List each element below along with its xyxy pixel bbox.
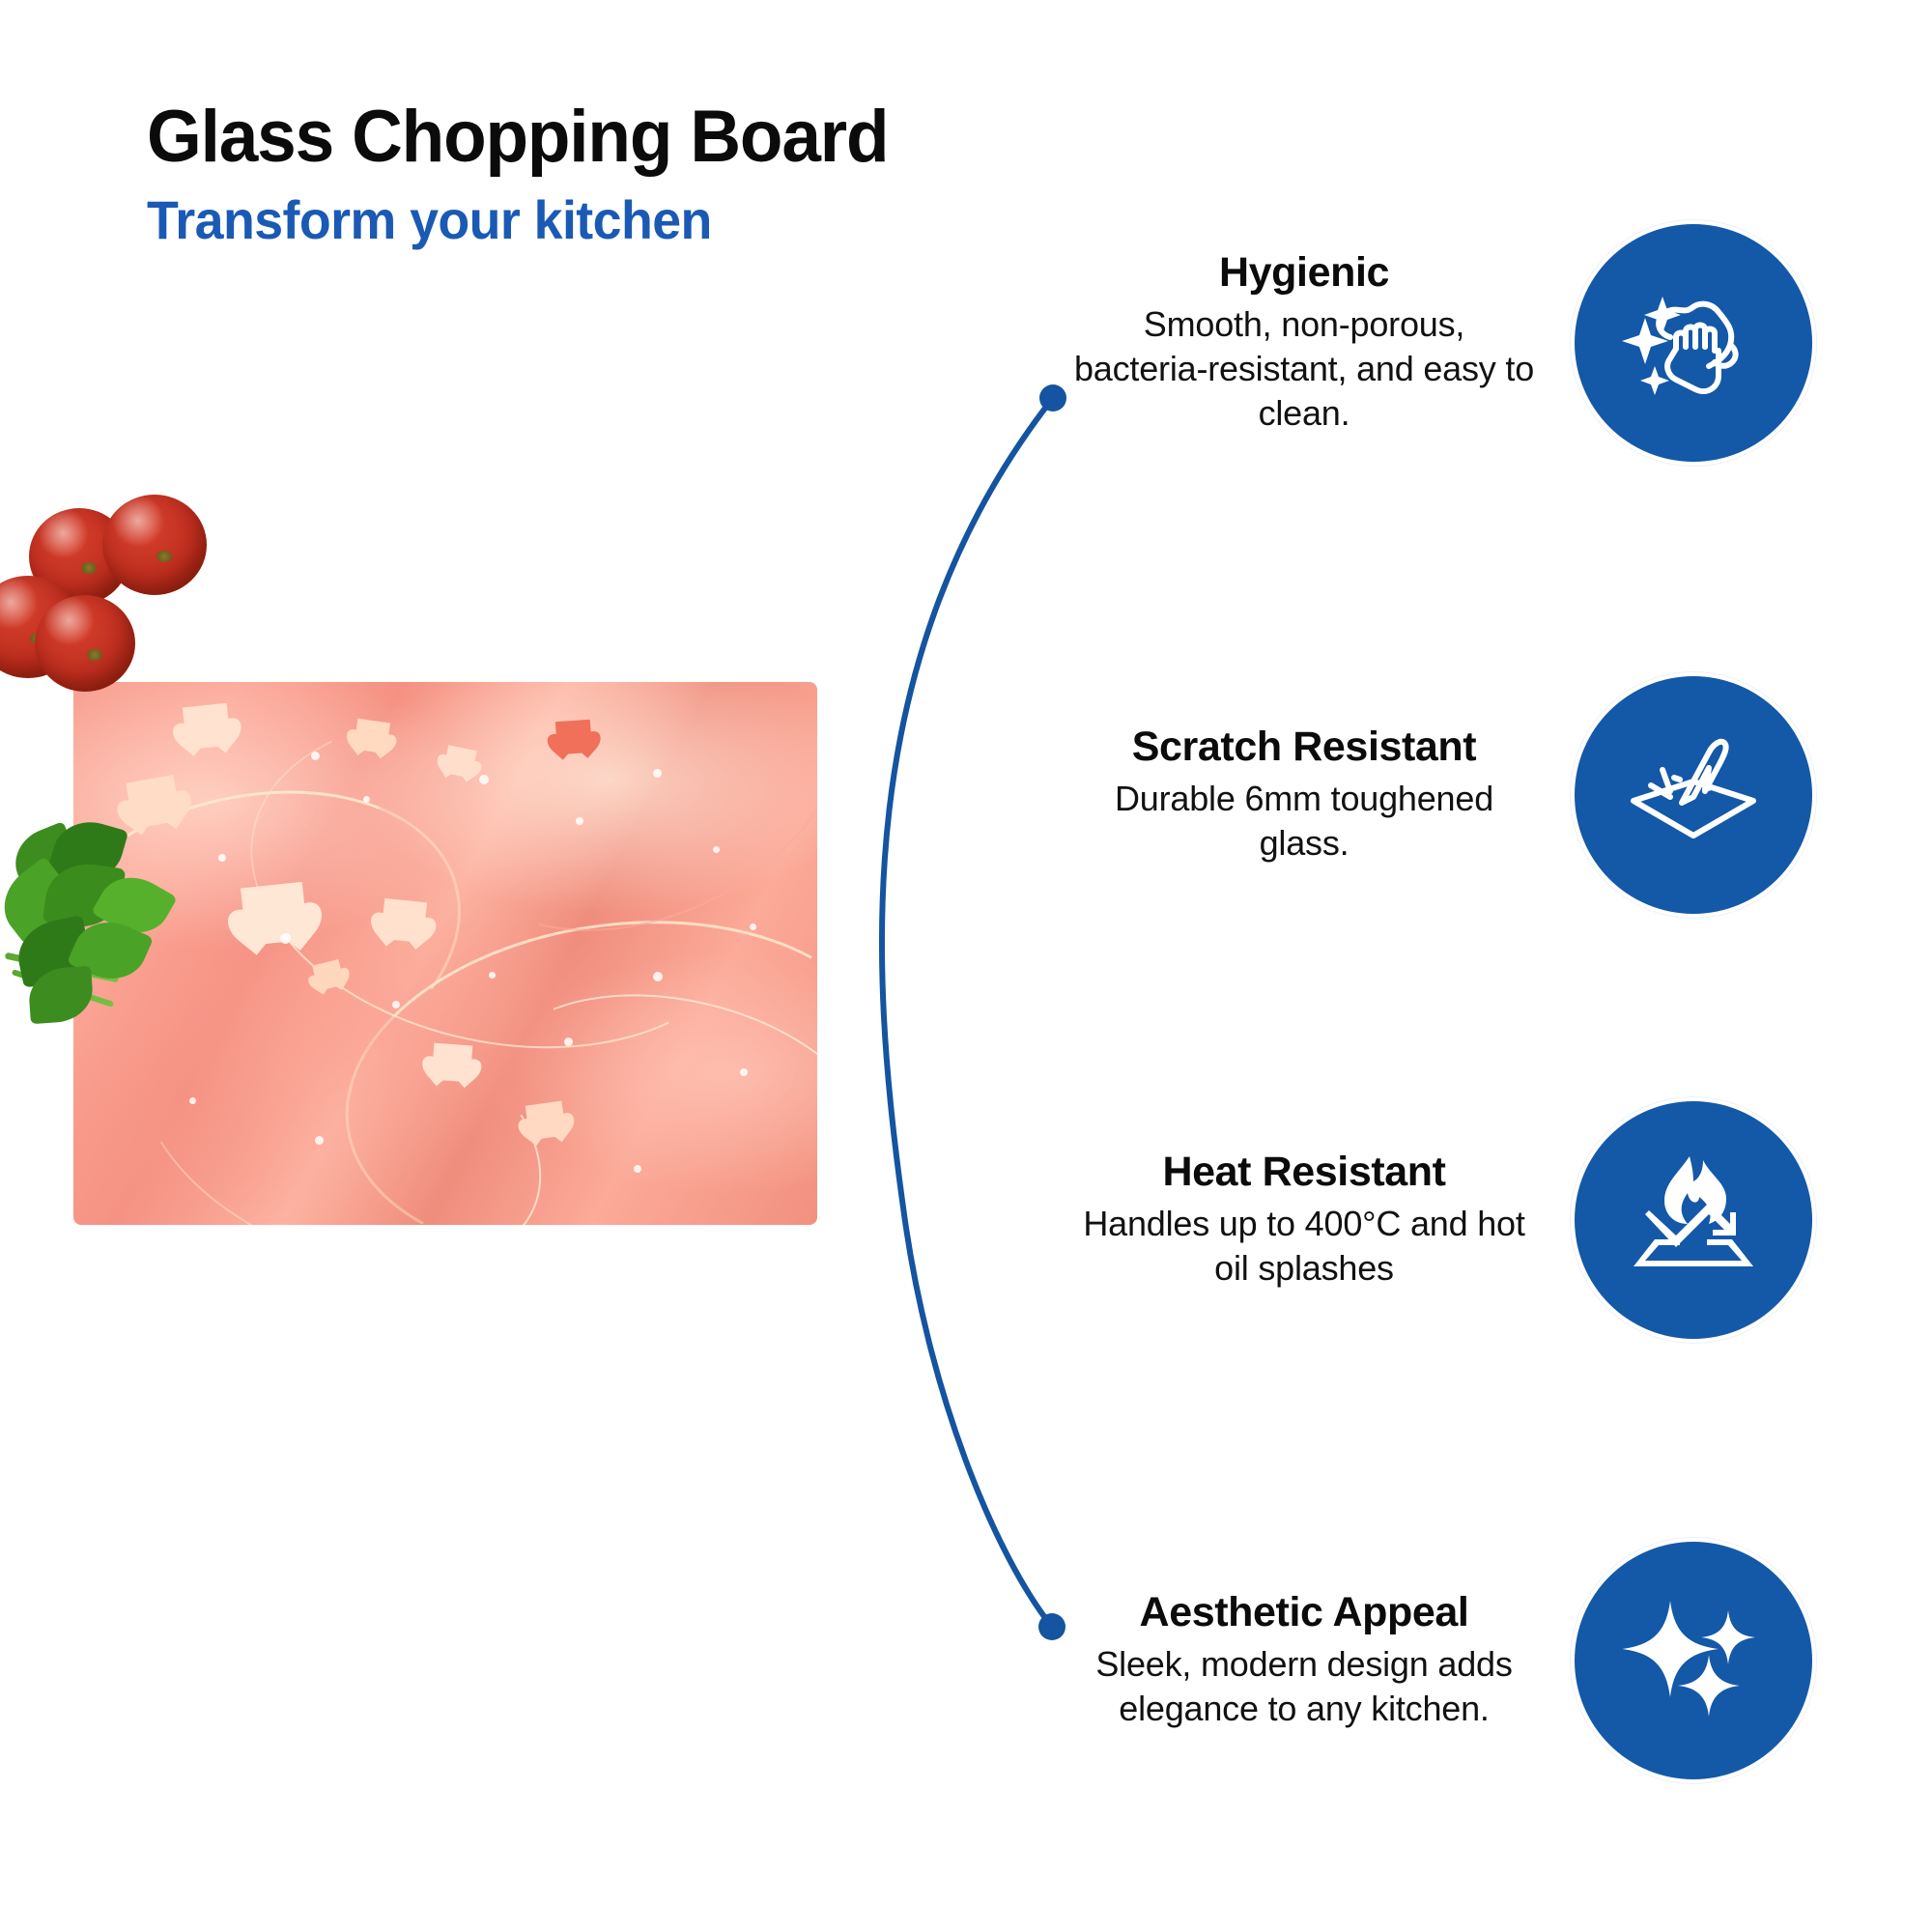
- parsley-garnish: [0, 821, 203, 1034]
- feature-heat-resistant: Heat Resistant Handles up to 400°C and h…: [1072, 1101, 1812, 1339]
- speckle: [653, 769, 662, 778]
- speckle: [218, 854, 226, 862]
- speckle: [634, 1165, 641, 1173]
- speckle: [363, 796, 370, 803]
- speckle: [489, 972, 496, 979]
- sparkles-icon: [1575, 1542, 1812, 1779]
- heart-motif: [432, 1043, 473, 1083]
- speckle: [653, 972, 663, 981]
- feature-title: Scratch Resistant: [1072, 724, 1536, 769]
- feature-hygienic: Hygienic Smooth, non-porous, bacteria-re…: [1072, 224, 1812, 462]
- marble-swirl: [219, 682, 781, 1093]
- cherry-tomato: [102, 495, 207, 595]
- heart-motif: [354, 719, 390, 753]
- marble-swirl: [403, 682, 817, 989]
- feature-aesthetic-appeal: Aesthetic Appeal Sleek, modern design ad…: [1072, 1542, 1812, 1779]
- speckle: [713, 846, 720, 853]
- header-block: Glass Chopping Board Transform your kitc…: [147, 100, 919, 247]
- feature-text-block: Heat Resistant Handles up to 400°C and h…: [1072, 1150, 1536, 1292]
- heart-motif: [381, 898, 427, 943]
- product-image: [0, 580, 850, 1275]
- speckle: [189, 1097, 196, 1104]
- speckle: [740, 1068, 748, 1076]
- connector-dot-top: [1039, 384, 1066, 412]
- speckle: [576, 817, 583, 825]
- infographic-canvas: Glass Chopping Board Transform your kitc…: [0, 0, 1932, 1932]
- feature-description: Durable 6mm toughened glass.: [1072, 777, 1536, 866]
- speckle: [280, 933, 291, 944]
- heart-motif: [555, 720, 592, 754]
- heart-motif: [183, 703, 231, 751]
- page-title: Glass Chopping Board: [147, 100, 888, 174]
- heart-motif: [442, 745, 476, 779]
- feature-description: Handles up to 400°C and hot oil splashes: [1072, 1202, 1536, 1291]
- speckle: [564, 1037, 573, 1046]
- heart-motif: [526, 1101, 567, 1141]
- feature-scratch-resistant: Scratch Resistant Durable 6mm toughened …: [1072, 676, 1812, 914]
- feature-title: Hygienic: [1072, 250, 1536, 295]
- speckle: [311, 752, 320, 760]
- feature-description: Sleek, modern design adds elegance to an…: [1072, 1642, 1536, 1731]
- connector-dot-bottom: [1038, 1613, 1065, 1640]
- speckle: [750, 923, 756, 930]
- heart-motif: [312, 959, 345, 991]
- speckle: [315, 1136, 324, 1145]
- speckle: [479, 775, 489, 784]
- feature-title: Heat Resistant: [1072, 1150, 1536, 1194]
- marble-swirl: [468, 957, 817, 1225]
- flame-deflect-icon: [1575, 1101, 1812, 1339]
- feature-text-block: Aesthetic Appeal Sleek, modern design ad…: [1072, 1590, 1536, 1732]
- feature-title: Aesthetic Appeal: [1072, 1590, 1536, 1634]
- page-subtitle: Transform your kitchen: [147, 193, 888, 247]
- feature-description: Smooth, non-porous, bacteria-resistant, …: [1072, 302, 1536, 436]
- feature-text-block: Hygienic Smooth, non-porous, bacteria-re…: [1072, 250, 1536, 437]
- cherry-tomato: [35, 595, 135, 692]
- heart-motif: [241, 882, 308, 946]
- speckle: [392, 1001, 400, 1009]
- feature-text-block: Scratch Resistant Durable 6mm toughened …: [1072, 724, 1536, 867]
- knife-on-surface-icon: [1575, 676, 1812, 914]
- hand-wipe-sparkle-icon: [1575, 224, 1812, 462]
